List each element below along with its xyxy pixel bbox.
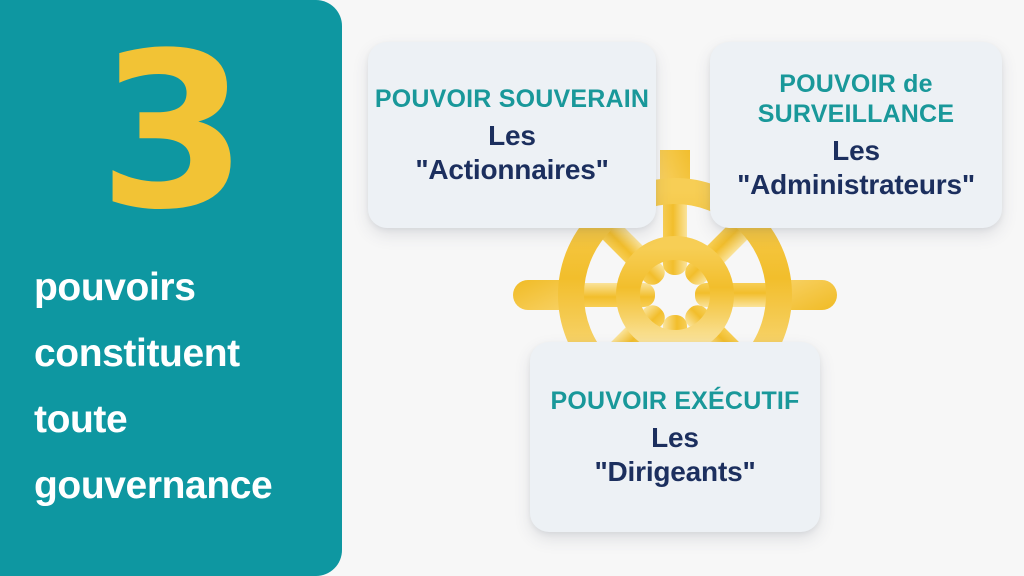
card-title-line-2: SURVEILLANCE [758,100,954,128]
card-pouvoir-de-surveillance[interactable]: POUVOIR de SURVEILLANCE Les "Administrat… [710,42,1002,228]
card-title-line-1: POUVOIR de [779,70,932,98]
left-panel: 3 pouvoirs constituent toute gouvernance [0,0,342,576]
slide-canvas: 3 pouvoirs constituent toute gouvernance [0,0,1024,576]
card-pouvoir-souverain[interactable]: POUVOIR SOUVERAIN Les "Actionnaires" [368,42,656,228]
card-subtitle-line-2: "Actionnaires" [415,153,608,187]
card-title-line-2: EXÉCUTIF [674,387,799,415]
card-title-line-2: SOUVERAIN [499,85,649,113]
caption-line-2: constituent [34,321,324,387]
card-title: POUVOIR EXÉCUTIF [550,386,799,416]
caption-line-1: pouvoirs [34,255,324,321]
caption-line-4: gouvernance [34,453,324,519]
card-subtitle: Les "Dirigeants" [594,421,755,489]
card-subtitle-line-2: "Dirigeants" [594,455,755,489]
card-title-line-1: POUVOIR [550,387,667,415]
panel-caption: pouvoirs constituent toute gouvernance [34,255,324,519]
big-number-3: 3 [0,24,342,239]
card-title-line-1: POUVOIR [375,85,492,113]
card-subtitle: Les "Actionnaires" [415,119,608,187]
card-subtitle-line-1: Les [415,119,608,153]
caption-line-3: toute [34,387,324,453]
card-title: POUVOIR de SURVEILLANCE [710,69,1002,129]
card-subtitle: Les "Administrateurs" [737,134,975,202]
card-subtitle-line-1: Les [737,134,975,168]
card-subtitle-line-1: Les [594,421,755,455]
card-pouvoir-executif[interactable]: POUVOIR EXÉCUTIF Les "Dirigeants" [530,342,820,532]
card-subtitle-line-2: "Administrateurs" [737,168,975,202]
card-title: POUVOIR SOUVERAIN [375,84,649,114]
